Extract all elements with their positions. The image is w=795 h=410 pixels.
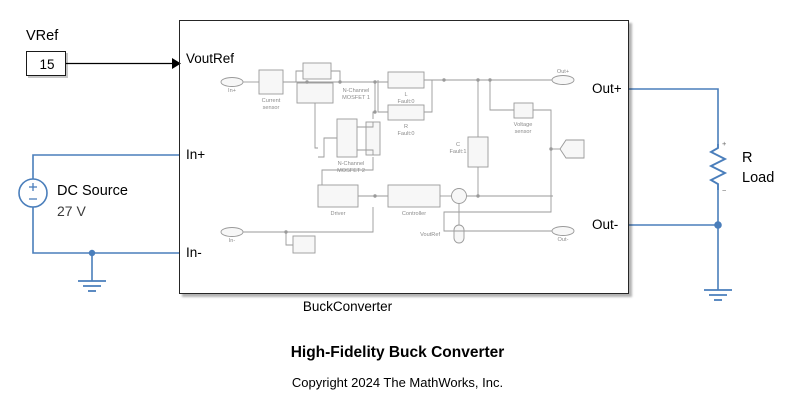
internal-label-out-plus: Out+ [557, 69, 569, 75]
dc-ground-junction-dot [89, 250, 95, 256]
internal-label-resistor-2: Fault:0 [397, 131, 414, 137]
internal-controller [388, 185, 440, 207]
internal-label-in-plus: In+ [228, 88, 236, 94]
internal-port-in-minus [221, 228, 243, 237]
load-subname: Load [742, 170, 774, 186]
internal-label-voutref: VoutRef [420, 232, 440, 238]
internal-label-controller: Controller [402, 211, 426, 217]
internal-label-out-minus: Out- [558, 237, 569, 243]
internal-voltage-sensor [514, 103, 533, 118]
internal-signal-junction [452, 189, 467, 204]
port-label-in-plus: In+ [186, 147, 205, 162]
copyright-notice: Copyright 2024 The MathWorks, Inc. [0, 375, 795, 390]
internal-label-mosfet1-1: N-Channel [343, 88, 370, 94]
svg-text:−: − [722, 186, 727, 195]
subsystem-internal-preview [221, 63, 584, 253]
load-name: R [742, 150, 752, 166]
port-label-out-minus: Out- [592, 217, 618, 232]
vref-label: VRef [26, 28, 58, 44]
internal-label-mosfet2-1: N-Channel [338, 161, 365, 167]
port-label-voutref: VoutRef [186, 51, 234, 66]
internal-mosfet1-body [297, 83, 333, 103]
subsystem-name-caption: BuckConverter [0, 299, 745, 314]
internal-label-capacitor-2: Fault:1 [449, 149, 466, 155]
load-resistor-symbol: + − [711, 139, 727, 195]
internal-labels: In+ Current sensor N-Channel MOSFET 1 N-… [228, 69, 569, 244]
internal-inductor [388, 72, 424, 88]
internal-unlabeled-block [293, 236, 315, 253]
internal-mosfet2-body [337, 119, 357, 157]
dc-source-circuit [33, 155, 179, 281]
internal-driver [318, 185, 358, 207]
internal-label-resistor-1: R [404, 124, 408, 130]
vref-signal-wire [66, 58, 181, 69]
internal-series-resistor [388, 105, 424, 120]
vref-value: 15 [27, 52, 67, 77]
internal-label-in-minus: In- [229, 238, 236, 244]
internal-capacitor [468, 137, 488, 167]
dc-ground-symbol [78, 281, 106, 291]
internal-scope-block [560, 140, 584, 158]
internal-label-voltage-sensor-2: sensor [515, 129, 532, 135]
dc-source-symbol [19, 179, 47, 207]
dc-source-name: DC Source [57, 183, 128, 199]
load-junction-dot [714, 221, 722, 229]
port-label-in-minus: In- [186, 245, 202, 260]
internal-label-inductor-1: L [404, 92, 407, 98]
internal-port-out-minus [552, 227, 574, 236]
dc-source-value: 27 V [57, 203, 86, 219]
port-label-out-plus: Out+ [592, 81, 622, 96]
page-title: High-Fidelity Buck Converter [0, 344, 795, 362]
internal-label-mosfet1-2: MOSFET 1 [342, 95, 370, 101]
internal-label-voltage-sensor-1: Voltage [514, 122, 533, 128]
vref-constant-block[interactable]: 15 [26, 51, 66, 76]
internal-port-in-plus [221, 78, 243, 87]
svg-text:+: + [722, 139, 727, 148]
internal-mosfet1-diode [303, 63, 331, 79]
internal-label-current-sensor-1: Current [262, 98, 281, 104]
internal-current-sensor [259, 70, 283, 94]
internal-port-out-plus [552, 76, 574, 85]
internal-label-inductor-2: Fault:0 [397, 99, 414, 105]
internal-label-capacitor-1: C [456, 142, 460, 148]
load-circuit [629, 89, 718, 290]
internal-label-driver: Driver [331, 211, 346, 217]
internal-label-current-sensor-2: sensor [263, 105, 280, 111]
internal-label-mosfet2-2: MOSFET 2 [337, 168, 365, 174]
internal-port-voutref [454, 225, 464, 243]
